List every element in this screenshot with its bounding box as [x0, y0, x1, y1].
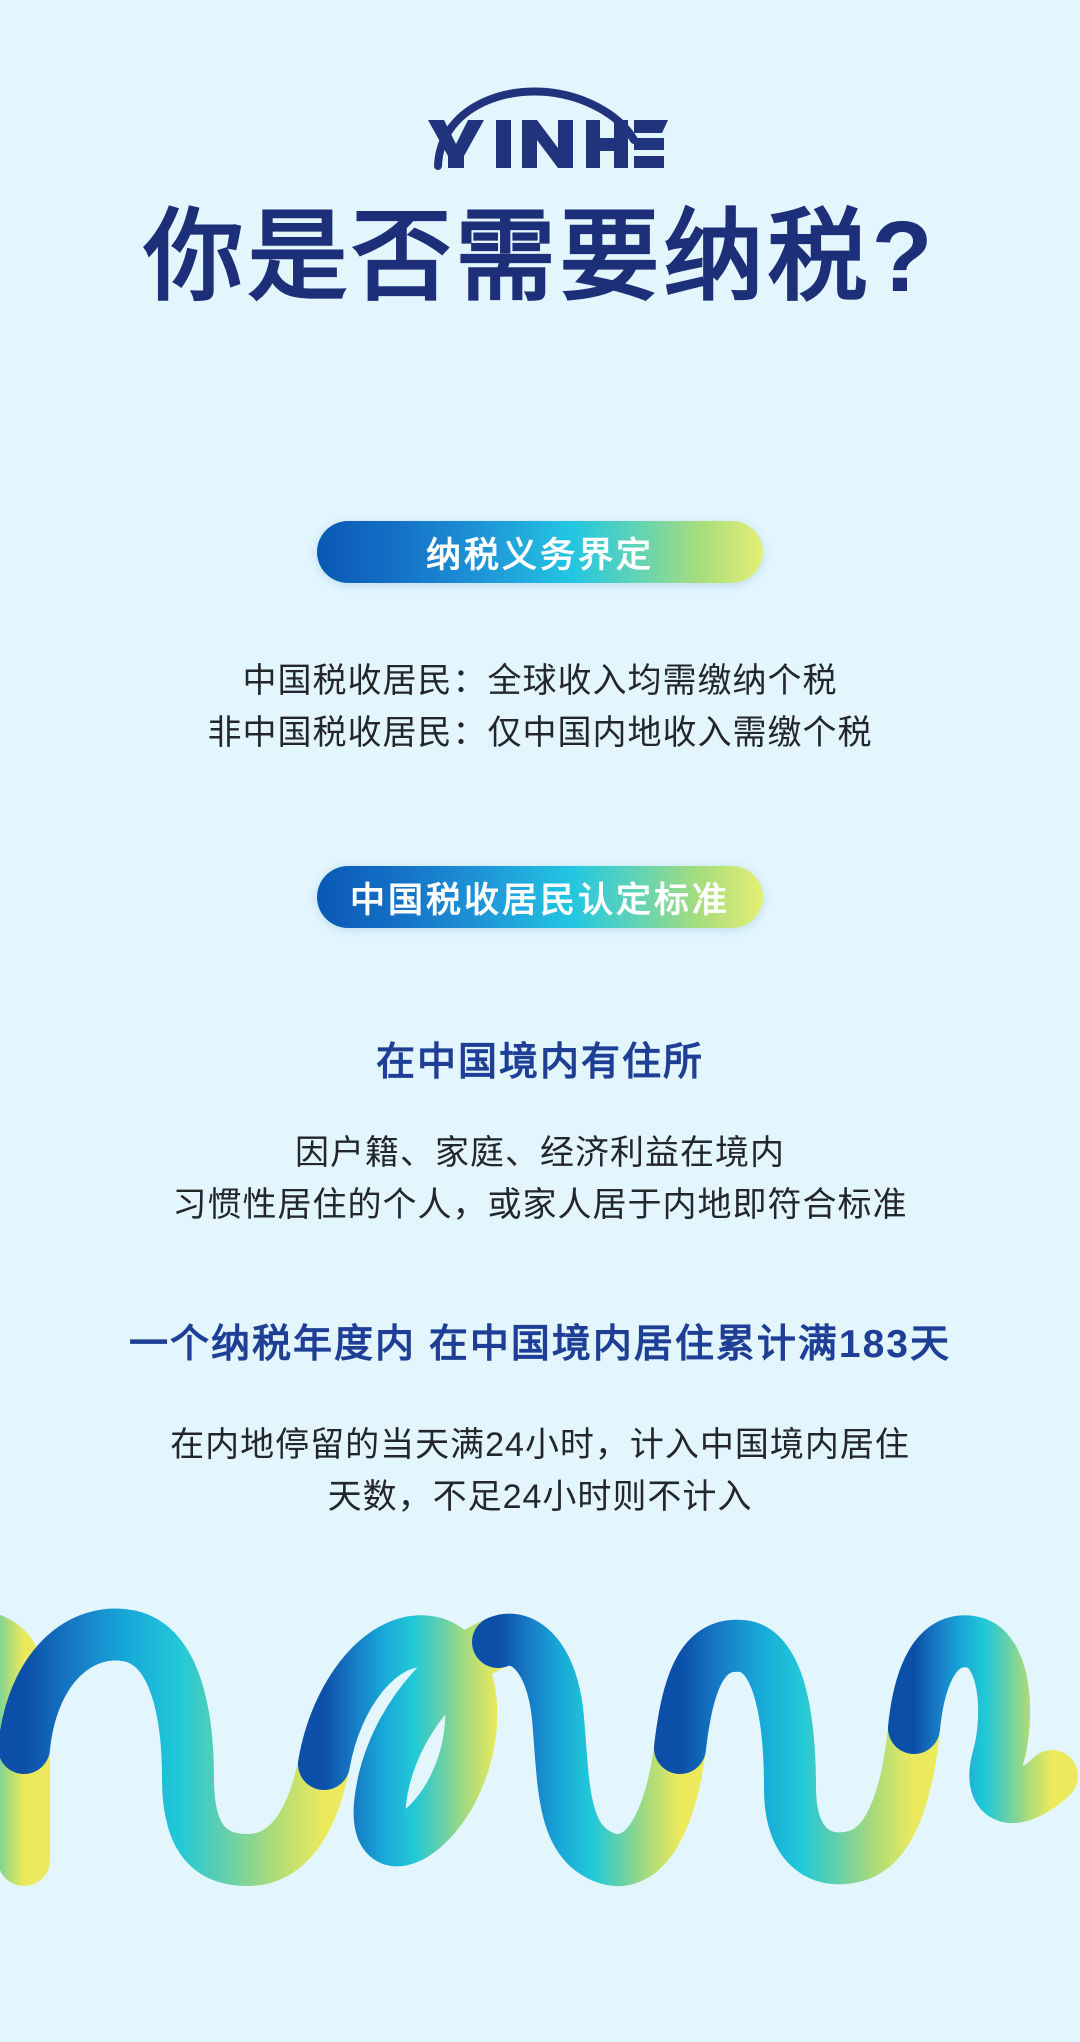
criterion-heading-183-days: 一个纳税年度内 在中国境内居住累计满183天	[0, 1318, 1080, 1373]
criterion-body-183-days: 在内地停留的当天满24小时，计入中国境内居住 天数，不足24小时则不计入	[0, 1420, 1080, 1523]
section-pill-tax-obligation: 纳税义务界定	[317, 521, 763, 583]
section-pill-resident-criteria: 中国税收居民认定标准	[317, 866, 763, 928]
body-line: 天数，不足24小时则不计入	[0, 1472, 1080, 1524]
heading-line: 在中国境内居住累计满183天	[429, 1323, 951, 1366]
tax-obligation-body: 中国税收居民：全球收入均需缴纳个税 非中国税收居民：仅中国内地收入需缴个税	[0, 656, 1080, 759]
page-title: 你是否需要纳税?	[0, 200, 1080, 315]
body-line: 因户籍、家庭、经济利益在境内	[0, 1128, 1080, 1180]
criterion-heading-domicile: 在中国境内有住所	[0, 1036, 1080, 1091]
heading-line: 在中国境内有住所	[376, 1041, 704, 1084]
body-line: 习惯性居住的个人，或家人居于内地即符合标准	[0, 1180, 1080, 1232]
heading-line: 一个纳税年度内	[129, 1323, 416, 1366]
brand-logo	[0, 78, 1080, 170]
pill-label: 中国税收居民认定标准	[350, 872, 730, 923]
pill-label: 纳税义务界定	[426, 527, 654, 578]
body-line: 在内地停留的当天满24小时，计入中国境内居住	[0, 1420, 1080, 1472]
body-line: 非中国税收居民：仅中国内地收入需缴个税	[0, 708, 1080, 760]
criterion-body-domicile: 因户籍、家庭、经济利益在境内 习惯性居住的个人，或家人居于内地即符合标准	[0, 1128, 1080, 1231]
poster-root: 你是否需要纳税? 纳税义务界定 中国税收居民：全球收入均需缴纳个税 非中国税收居…	[0, 0, 1080, 2042]
yinhe-logo-icon	[410, 78, 670, 170]
body-line: 中国税收居民：全球收入均需缴纳个税	[0, 656, 1080, 708]
new-script-decoration	[0, 1598, 1080, 1928]
